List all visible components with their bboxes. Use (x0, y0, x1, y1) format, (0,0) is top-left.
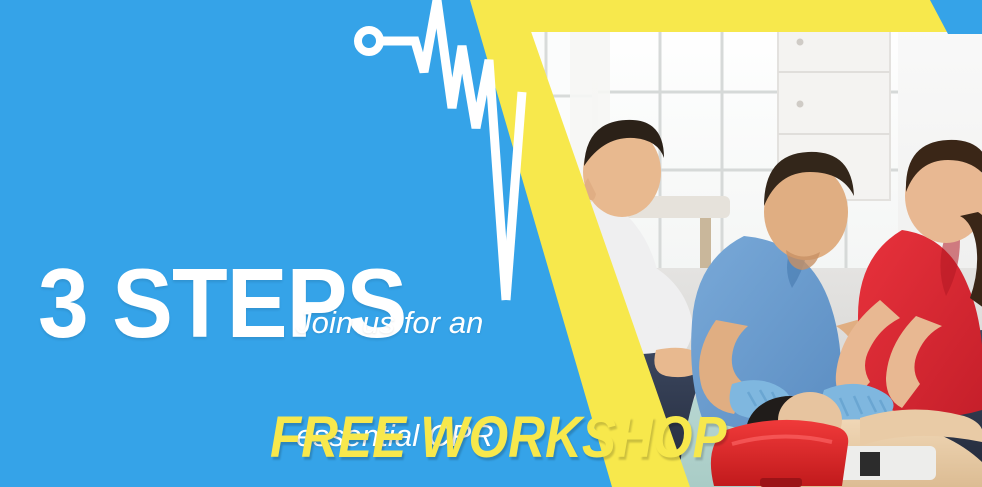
event-banner: 3 STEPS FOR LIFE Join us for an essentia… (0, 0, 982, 487)
free-workshop-badge: FREE WORKSHOP (270, 404, 727, 471)
subtitle-line-1: Join us for an (296, 304, 508, 342)
banner-content: 3 STEPS FOR LIFE Join us for an essentia… (0, 0, 982, 487)
